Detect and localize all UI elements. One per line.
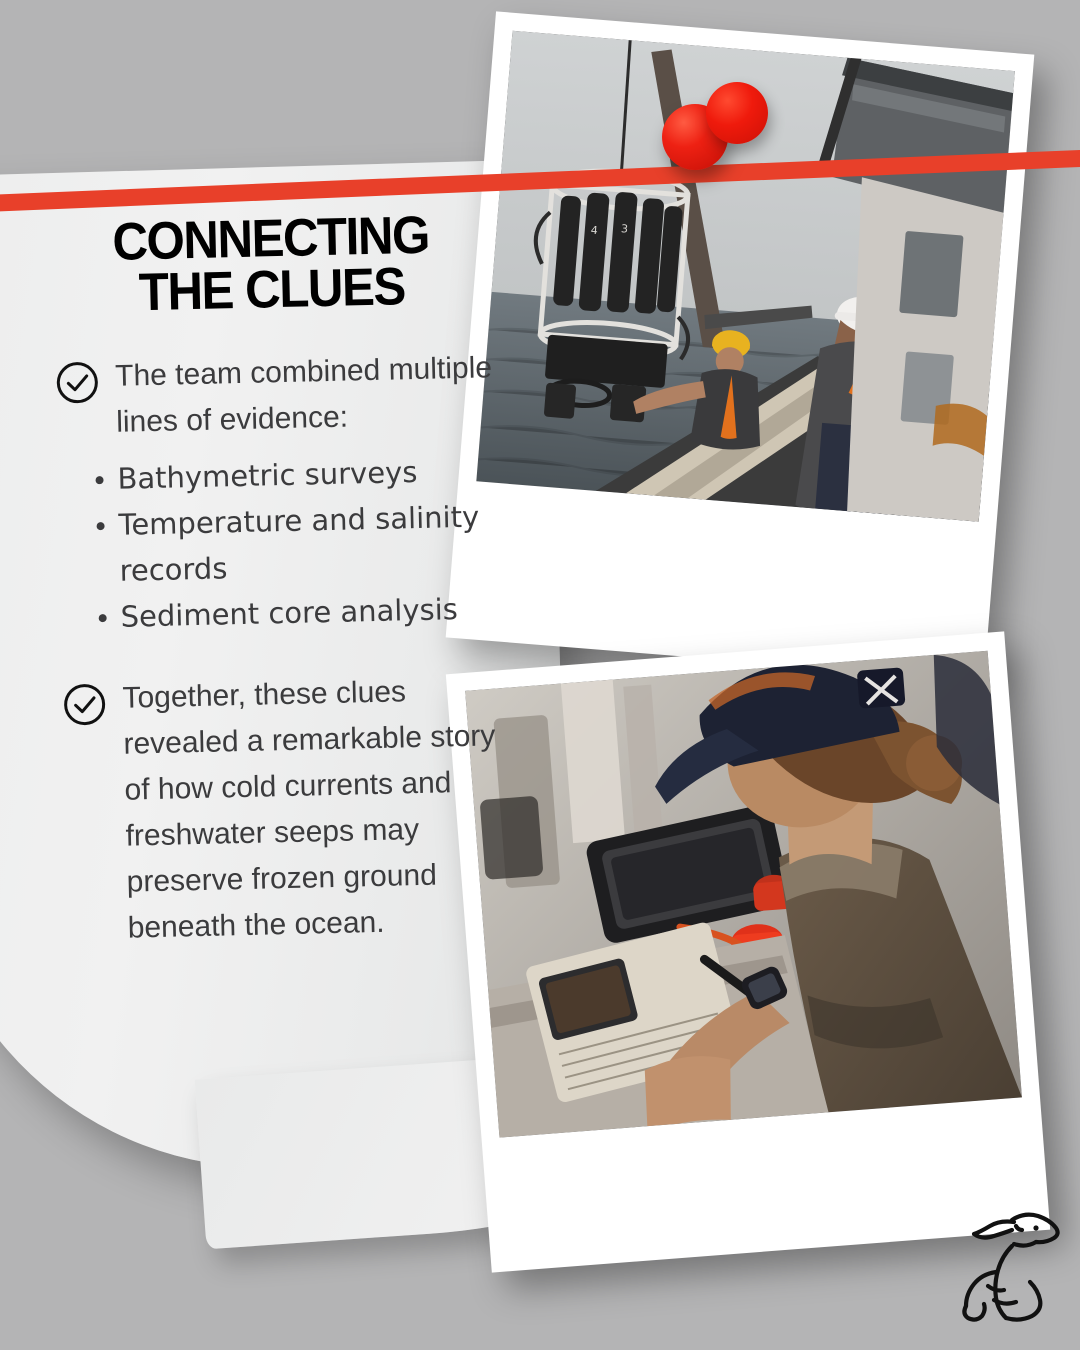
check-circle-icon — [62, 682, 107, 727]
evidence-sublist: Bathymetric surveys Temperature and sali… — [57, 447, 511, 641]
polar-bear-logo — [950, 1202, 1062, 1322]
bullet-point-1: The team combined multiple lines of evid… — [55, 345, 507, 447]
text-column: CONNECTING THE CLUES The team combined m… — [52, 209, 519, 963]
pushpin-head-right[interactable] — [706, 82, 768, 144]
researcher-taking-notes-photo — [465, 651, 1022, 1138]
bullet-point-2: Together, these clues revealed a remarka… — [62, 667, 518, 953]
poster-canvas: 43 — [0, 0, 1080, 1350]
svg-text:3: 3 — [621, 222, 629, 236]
polaroid-photo-lab[interactable] — [446, 631, 1050, 1272]
svg-text:4: 4 — [590, 224, 598, 238]
bullet-1-text: The team combined multiple lines of evid… — [115, 345, 507, 446]
list-item: Sediment core analysis — [96, 585, 511, 640]
page-title: CONNECTING THE CLUES — [67, 209, 488, 320]
bullet-2-text: Together, these clues revealed a remarka… — [122, 667, 518, 952]
list-item: Temperature and salinity records — [94, 493, 510, 594]
check-circle-icon — [55, 360, 100, 405]
